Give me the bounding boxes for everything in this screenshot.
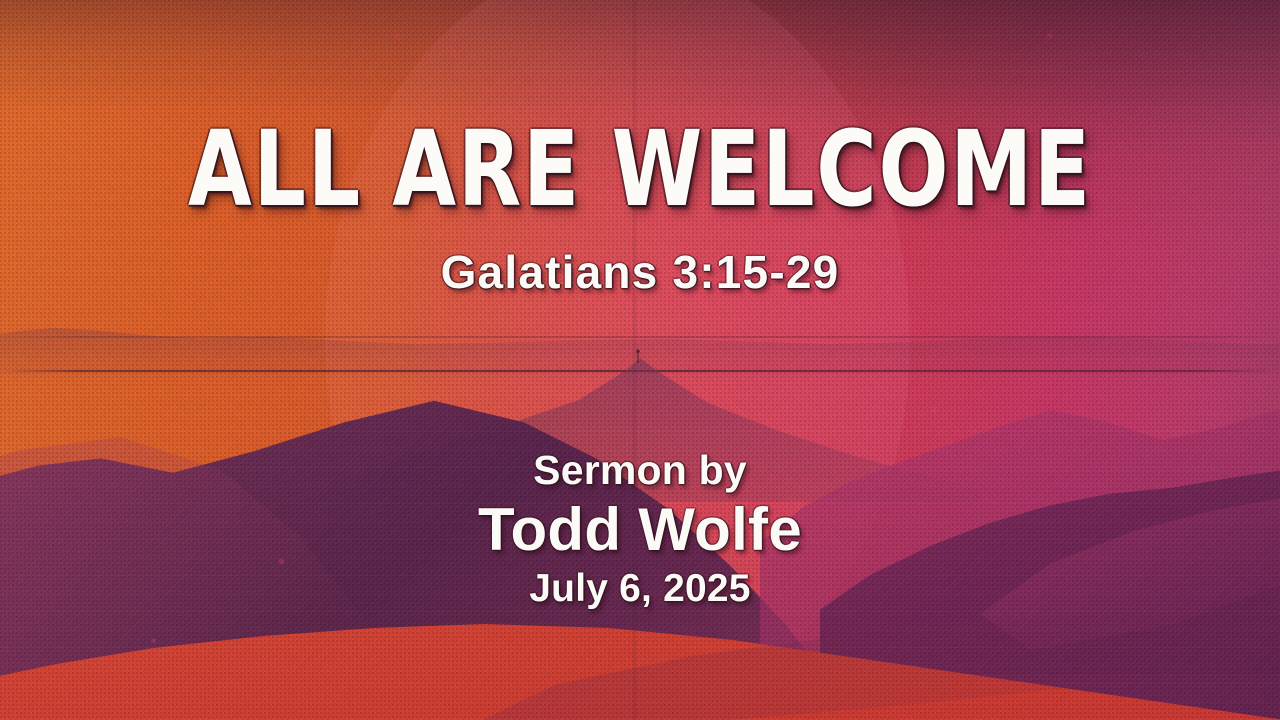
- scripture-reference: Galatians 3:15-29: [0, 248, 1280, 296]
- speaker-name: Todd Wolfe: [0, 493, 1280, 566]
- sermon-title-slide: ALL ARE WELCOME Galatians 3:15-29 Sermon…: [0, 0, 1280, 720]
- sermon-date: July 6, 2025: [0, 566, 1280, 612]
- sermon-by-label: Sermon by: [0, 448, 1280, 493]
- sermon-credits: Sermon by Todd Wolfe July 6, 2025: [0, 448, 1280, 612]
- text-overlay: ALL ARE WELCOME Galatians 3:15-29 Sermon…: [0, 0, 1280, 720]
- slide-title: ALL ARE WELCOME: [77, 117, 1203, 221]
